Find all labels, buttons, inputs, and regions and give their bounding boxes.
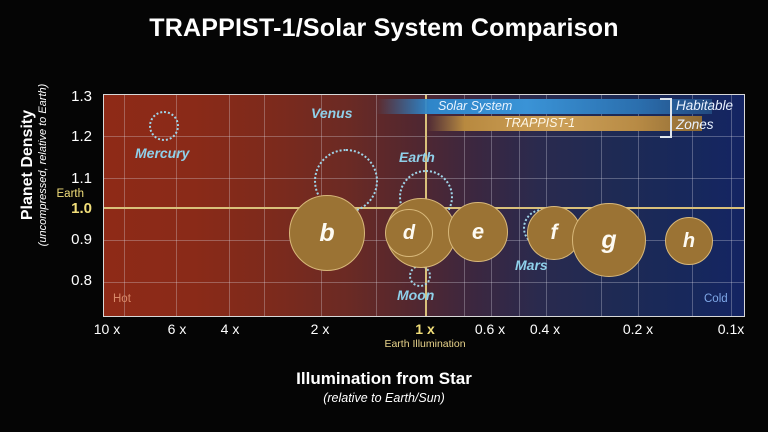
y-tick-0-9: 0.9	[46, 231, 92, 248]
habitable-zone-label-solar-system: Solar System	[438, 99, 512, 114]
y-tick-earth-value: 1.0	[46, 200, 92, 217]
y-tick-1-2: 1.2	[46, 128, 92, 145]
planet-label-b: b	[290, 196, 364, 270]
x-tick-0-1x: 0.1x	[718, 321, 744, 337]
x-tick-4x: 4 x	[221, 321, 240, 337]
x-tick-0-2x: 0.2 x	[623, 321, 653, 337]
solar-body-label-venus: Venus	[311, 105, 353, 121]
x-axis-title-sub: (relative to Earth/Sun)	[0, 391, 768, 405]
solar-body-label-mercury: Mercury	[135, 145, 189, 161]
gridline-h	[104, 136, 744, 137]
planet-marker-g: g	[572, 203, 646, 277]
x-tick-6x: 6 x	[168, 321, 187, 337]
planet-label-e: e	[449, 203, 507, 261]
planet-marker-h: h	[665, 217, 713, 265]
habitable-zones-bracket	[660, 98, 672, 138]
solar-body-label-moon: Moon	[397, 287, 434, 303]
x-tick-2x: 2 x	[311, 321, 330, 337]
y-tick-earth-word: Earth	[38, 188, 84, 200]
x-tick-earth-illumination-note: Earth Illumination	[384, 338, 465, 350]
y-tick-1-3: 1.3	[46, 88, 92, 105]
solar-body-label-earth: Earth	[399, 149, 435, 165]
planet-marker-b: b	[289, 195, 365, 271]
habitable-zones-caption-line1: Habitable	[676, 96, 733, 115]
y-axis-title: Planet Density (uncompressed, relative t…	[19, 65, 49, 265]
infographic-root: TRAPPIST-1/Solar System Comparison Plane…	[0, 0, 768, 432]
x-tick-1x: 1 x	[415, 321, 434, 337]
y-axis-title-main: Planet Density	[19, 65, 37, 265]
planet-label-h: h	[666, 218, 712, 264]
habitable-zone-label-trappist-1: TRAPPIST-1	[504, 116, 575, 131]
hot-label: Hot	[113, 293, 131, 305]
y-tick-0-8: 0.8	[46, 272, 92, 289]
habitable-zones-caption-line2: Zones	[676, 115, 733, 134]
cold-label: Cold	[704, 293, 728, 305]
solar-body-moon	[409, 265, 431, 287]
habitable-zones-caption: Habitable Zones	[676, 96, 733, 134]
planet-label-g: g	[573, 204, 645, 276]
x-axis-title-main: Illumination from Star	[0, 369, 768, 389]
x-tick-0-6x: 0.6 x	[475, 321, 505, 337]
planet-label-d: d	[386, 210, 432, 256]
y-tick-1-1: 1.1	[46, 170, 92, 187]
x-axis-title: Illumination from Star (relative to Eart…	[0, 369, 768, 405]
planet-marker-d: d	[385, 209, 433, 257]
x-tick-0-4x: 0.4 x	[530, 321, 560, 337]
solar-body-mercury	[149, 111, 179, 141]
plot-area: Solar System TRAPPIST-1 Hot Cold Mercury…	[103, 94, 745, 317]
x-tick-10x: 10 x	[94, 321, 120, 337]
planet-marker-e: e	[448, 202, 508, 262]
page-title: TRAPPIST-1/Solar System Comparison	[0, 14, 768, 43]
solar-body-label-mars: Mars	[515, 257, 548, 273]
